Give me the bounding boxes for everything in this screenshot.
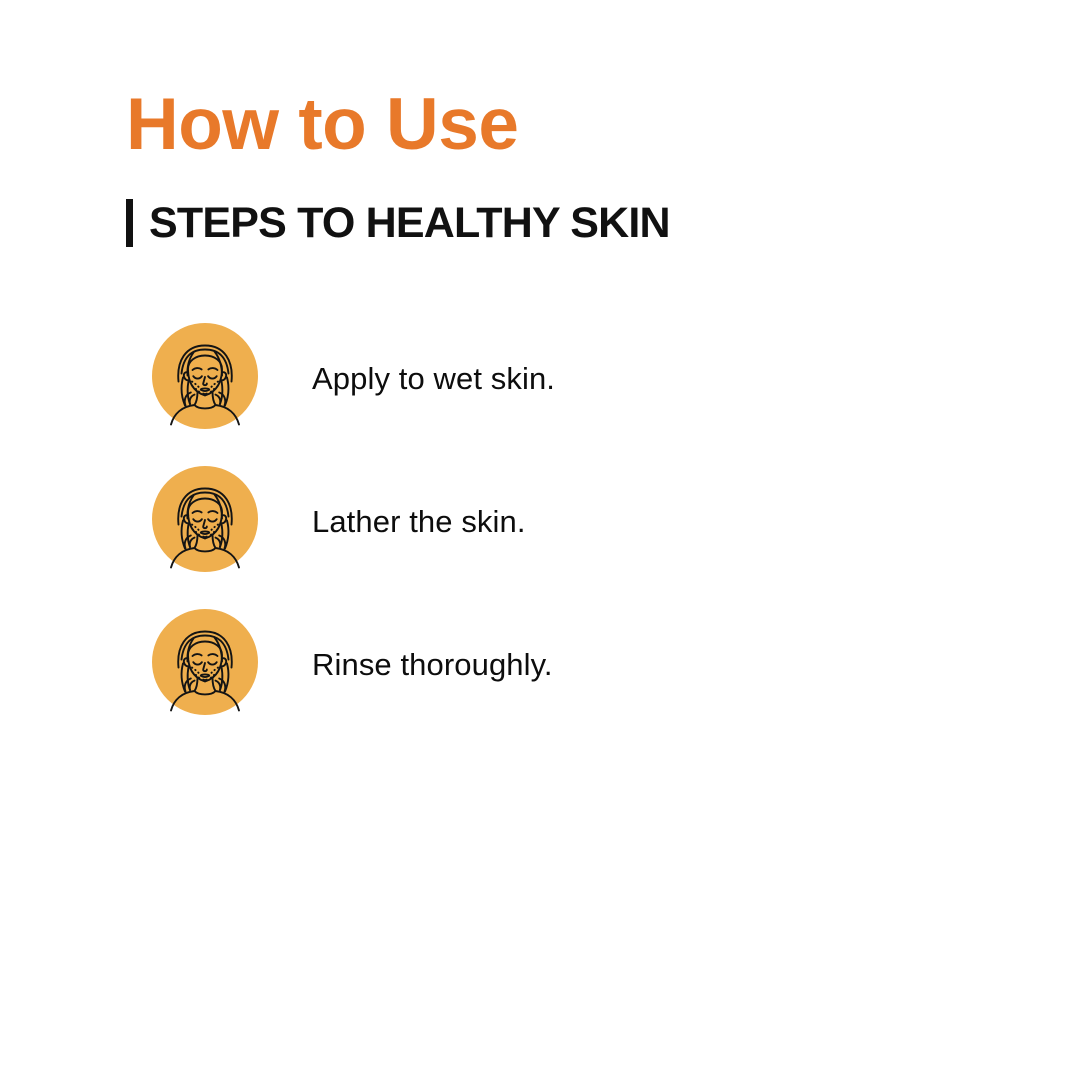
- how-to-use-card: How to Use STEPS TO HEALTHY SKIN: [0, 0, 1080, 1080]
- list-item: Lather the skin.: [152, 466, 912, 572]
- list-item: Rinse thoroughly.: [152, 609, 912, 715]
- face-skincare-icon: [152, 323, 258, 429]
- subtitle-block: STEPS TO HEALTHY SKIN: [126, 198, 670, 248]
- step-label: Apply to wet skin.: [312, 354, 555, 397]
- page-title: How to Use: [126, 88, 518, 161]
- accent-bar: [126, 199, 133, 247]
- face-skincare-icon: [152, 609, 258, 715]
- step-label: Rinse thoroughly.: [312, 640, 553, 683]
- list-item: Apply to wet skin.: [152, 323, 912, 429]
- subtitle: STEPS TO HEALTHY SKIN: [149, 202, 670, 245]
- face-skincare-icon: [152, 466, 258, 572]
- step-label: Lather the skin.: [312, 497, 526, 540]
